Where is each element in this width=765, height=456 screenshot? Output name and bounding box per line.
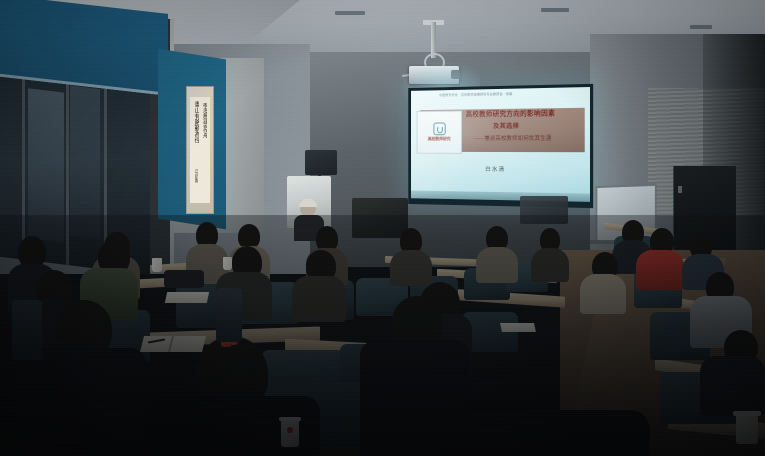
slide-title-line-2: 及其选择: [493, 123, 519, 131]
red-jacket-attendee: [636, 250, 684, 290]
white-paper-cup[interactable]: [152, 258, 162, 272]
slide-logo: 高校教师研究: [417, 110, 462, 153]
draped-coat: [12, 300, 42, 360]
cup-lid: [279, 417, 301, 421]
ceiling-air-vent: [335, 11, 365, 15]
white-paper-cup[interactable]: [223, 257, 232, 270]
attendee-body: [292, 276, 346, 322]
attendee-body: [360, 340, 470, 456]
ceiling-air-vent: [690, 25, 712, 29]
attendee-body: [390, 250, 432, 286]
slide-header-text: 中国教育学会 · 高校教师发展研究专业委员会 · 讲座: [439, 89, 584, 99]
cup-logo-icon: [287, 427, 293, 433]
window-pane: [28, 88, 64, 242]
white-paper-cup[interactable]: [736, 414, 758, 444]
door-handle-icon: [678, 186, 682, 193]
attendee-body: [476, 247, 518, 283]
attendee-body: [16, 348, 146, 456]
ceiling-air-vent: [541, 8, 569, 12]
beige-coat-attendee: [580, 274, 626, 314]
window-mullion: [22, 69, 25, 259]
slide-surface: 中国教育学会 · 高校教师发展研究专业委员会 · 讲座 高校教师研究 高校教师研…: [411, 87, 590, 202]
attendee-body: [700, 356, 765, 416]
slide-author: 白水清: [485, 165, 505, 173]
window-mullion: [66, 75, 69, 265]
lecture-hall-photo: 書山有路勤為徑 學海無涯苦作舟 己丑年春 中国教育学会 · 高校教师发展研究专业…: [0, 0, 765, 456]
shoulder-bag: [164, 270, 204, 288]
white-paper-cup[interactable]: [281, 419, 299, 447]
wall-mounted-speaker: [305, 150, 337, 175]
projector-lens-icon: [451, 70, 460, 79]
attendee-body: [531, 248, 569, 282]
draped-coat: [216, 288, 242, 342]
av-equipment-unit: [520, 196, 568, 224]
attendee-body: [470, 410, 650, 456]
slide-logo-text: 高校教师研究: [428, 136, 451, 142]
wall-calligraphy-scroll: 書山有路勤為徑 學海無涯苦作舟 己丑年春: [186, 86, 214, 214]
window-pane: [70, 85, 100, 239]
shield-badge-icon: [433, 122, 445, 135]
cup-lid: [733, 411, 761, 416]
scroll-text-column-2: 學海無涯苦作舟: [201, 103, 207, 187]
projection-screen: 中国教育学会 · 高校教师发展研究专业委员会 · 讲座 高校教师研究 高校教师研…: [408, 84, 593, 208]
slide-title-line-1: 高校教师研究方向的影响因素: [466, 110, 586, 119]
av-equipment-cabinet: [352, 198, 408, 238]
scroll-signature: 己丑年春: [194, 169, 198, 199]
open-notebook[interactable]: [165, 292, 209, 303]
presenter-hair: [299, 199, 317, 207]
open-notebook[interactable]: [500, 323, 536, 332]
slide-subtitle: ——兼谈高校教师如何优其生涯: [474, 136, 552, 143]
